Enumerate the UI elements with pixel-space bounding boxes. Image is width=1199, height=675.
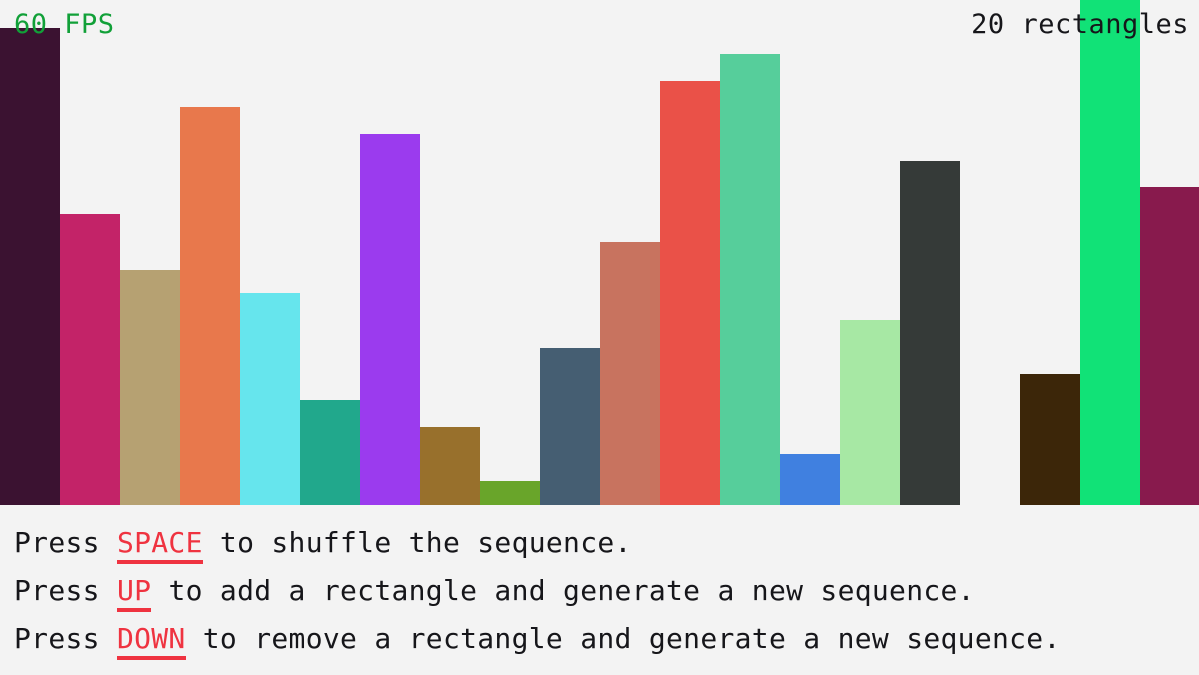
key-badge-down[interactable]: DOWN	[117, 622, 186, 660]
chart-bar	[840, 320, 900, 505]
chart-bar	[1020, 374, 1080, 505]
chart-bar	[480, 481, 540, 505]
instruction-prefix: Press	[14, 574, 117, 607]
chart-bar	[180, 107, 240, 505]
instruction-suffix: to shuffle the sequence.	[203, 526, 632, 559]
fps-counter: 60 FPS	[14, 11, 115, 38]
key-badge-space[interactable]: SPACE	[117, 526, 203, 564]
instructions-panel: Press SPACE to shuffle the sequence.Pres…	[0, 505, 1199, 675]
chart-bar	[660, 81, 720, 505]
chart-bar	[600, 242, 660, 505]
chart-bar	[420, 427, 480, 505]
chart-bar	[240, 293, 300, 505]
chart-bar	[0, 28, 60, 505]
chart-bar	[1140, 187, 1199, 505]
chart-bar	[360, 134, 420, 505]
instruction-prefix: Press	[14, 622, 117, 655]
chart-bar	[120, 270, 180, 505]
chart-bar	[540, 348, 600, 505]
instruction-line: Press UP to add a rectangle and generate…	[14, 567, 1199, 615]
chart-bar	[900, 161, 960, 505]
bar-chart-canvas	[0, 0, 1199, 505]
chart-bar	[60, 214, 120, 505]
instruction-suffix: to add a rectangle and generate a new se…	[151, 574, 975, 607]
rectangle-count-label: 20 rectangles	[971, 11, 1189, 38]
chart-bar	[1080, 0, 1140, 505]
chart-bar	[780, 454, 840, 505]
instruction-line: Press SPACE to shuffle the sequence.	[14, 519, 1199, 567]
chart-bar	[720, 54, 780, 505]
rectangle-sequence-app: 60 FPS 20 rectangles Press SPACE to shuf…	[0, 0, 1199, 675]
key-badge-up[interactable]: UP	[117, 574, 151, 612]
chart-bar	[300, 400, 360, 505]
instruction-line: Press DOWN to remove a rectangle and gen…	[14, 615, 1199, 663]
instruction-suffix: to remove a rectangle and generate a new…	[186, 622, 1061, 655]
instruction-prefix: Press	[14, 526, 117, 559]
